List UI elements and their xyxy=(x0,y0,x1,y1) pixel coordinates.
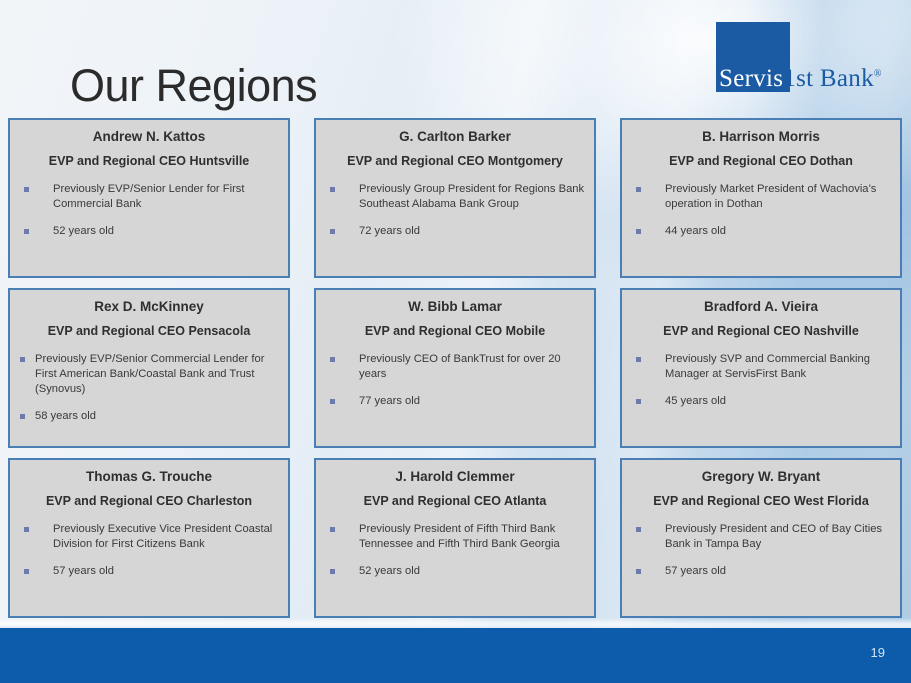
bullet-text: Previously President of Fifth Third Bank… xyxy=(359,522,586,552)
bullet-text: Previously CEO of BankTrust for over 20 … xyxy=(359,352,586,382)
region-card: G. Carlton Barker EVP and Regional CEO M… xyxy=(314,118,596,278)
region-card: Thomas G. Trouche EVP and Regional CEO C… xyxy=(8,458,290,618)
bullet-text: 52 years old xyxy=(359,564,586,579)
executive-name: J. Harold Clemmer xyxy=(324,469,586,486)
list-item: Previously Market President of Wachovia’… xyxy=(630,182,892,212)
square-bullet-icon xyxy=(636,187,641,192)
executive-role: EVP and Regional CEO Atlanta xyxy=(324,494,586,510)
executive-name: Rex D. McKinney xyxy=(18,299,280,316)
executive-name: Thomas G. Trouche xyxy=(18,469,280,486)
executive-name: Bradford A. Vieira xyxy=(630,299,892,316)
list-item: Previously Group President for Regions B… xyxy=(324,182,586,212)
list-item: 57 years old xyxy=(630,564,892,579)
list-item: 72 years old xyxy=(324,224,586,239)
square-bullet-icon xyxy=(330,187,335,192)
executive-bullet-list: Previously Market President of Wachovia’… xyxy=(630,182,892,239)
bullet-text: Previously EVP/Senior Lender for First C… xyxy=(53,182,280,212)
executive-role: EVP and Regional CEO Montgomery xyxy=(324,154,586,170)
executive-role: EVP and Regional CEO Charleston xyxy=(18,494,280,510)
regions-card-grid: Andrew N. Kattos EVP and Regional CEO Hu… xyxy=(8,118,904,618)
executive-bullet-list: Previously EVP/Senior Lender for First C… xyxy=(18,182,280,239)
list-item: Previously EVP/Senior Lender for First C… xyxy=(18,182,280,212)
executive-role: EVP and Regional CEO Nashville xyxy=(630,324,892,340)
executive-role: EVP and Regional CEO Huntsville xyxy=(18,154,280,170)
bullet-text: 44 years old xyxy=(665,224,892,239)
square-bullet-icon xyxy=(24,229,29,234)
list-item: Previously EVP/Senior Commercial Lender … xyxy=(18,352,280,397)
region-card: Gregory W. Bryant EVP and Regional CEO W… xyxy=(620,458,902,618)
executive-bullet-list: Previously EVP/Senior Commercial Lender … xyxy=(18,352,280,424)
list-item: Previously CEO of BankTrust for over 20 … xyxy=(324,352,586,382)
region-card: Rex D. McKinney EVP and Regional CEO Pen… xyxy=(8,288,290,448)
executive-bullet-list: Previously President of Fifth Third Bank… xyxy=(324,522,586,579)
footer-bar xyxy=(0,628,911,683)
executive-name: B. Harrison Morris xyxy=(630,129,892,146)
executive-name: Gregory W. Bryant xyxy=(630,469,892,486)
square-bullet-icon xyxy=(330,229,335,234)
executive-name: W. Bibb Lamar xyxy=(324,299,586,316)
square-bullet-icon xyxy=(330,569,335,574)
executive-bullet-list: Previously Executive Vice President Coas… xyxy=(18,522,280,579)
square-bullet-icon xyxy=(20,357,25,362)
executive-role: EVP and Regional CEO Dothan xyxy=(630,154,892,170)
list-item: 57 years old xyxy=(18,564,280,579)
bullet-text: Previously SVP and Commercial Banking Ma… xyxy=(665,352,892,382)
square-bullet-icon xyxy=(636,569,641,574)
region-card: J. Harold Clemmer EVP and Regional CEO A… xyxy=(314,458,596,618)
list-item: Previously President of Fifth Third Bank… xyxy=(324,522,586,552)
page-number: 19 xyxy=(871,645,885,660)
bullet-text: 52 years old xyxy=(53,224,280,239)
servisfirst-bank-logo: Servis1st Bank® xyxy=(716,22,896,94)
bullet-text: Previously Executive Vice President Coas… xyxy=(53,522,280,552)
list-item: 77 years old xyxy=(324,394,586,409)
executive-role: EVP and Regional CEO West Florida xyxy=(630,494,892,510)
executive-bullet-list: Previously CEO of BankTrust for over 20 … xyxy=(324,352,586,409)
bullet-text: 72 years old xyxy=(359,224,586,239)
logo-wordmark: Servis1st Bank® xyxy=(719,66,882,91)
page-title: Our Regions xyxy=(70,63,317,108)
list-item: Previously SVP and Commercial Banking Ma… xyxy=(630,352,892,382)
square-bullet-icon xyxy=(330,399,335,404)
executive-role: EVP and Regional CEO Pensacola xyxy=(18,324,280,340)
executive-bullet-list: Previously President and CEO of Bay Citi… xyxy=(630,522,892,579)
region-card: B. Harrison Morris EVP and Regional CEO … xyxy=(620,118,902,278)
bullet-text: Previously EVP/Senior Commercial Lender … xyxy=(35,352,280,397)
square-bullet-icon xyxy=(20,414,25,419)
list-item: 44 years old xyxy=(630,224,892,239)
square-bullet-icon xyxy=(330,527,335,532)
executive-bullet-list: Previously Group President for Regions B… xyxy=(324,182,586,239)
square-bullet-icon xyxy=(24,569,29,574)
square-bullet-icon xyxy=(330,357,335,362)
bullet-text: 58 years old xyxy=(35,409,280,424)
bullet-text: Previously Market President of Wachovia’… xyxy=(665,182,892,212)
square-bullet-icon xyxy=(636,399,641,404)
list-item: 52 years old xyxy=(324,564,586,579)
square-bullet-icon xyxy=(636,229,641,234)
presentation-slide: Our Regions Servis1st Bank® Andrew N. Ka… xyxy=(0,0,911,683)
list-item: 58 years old xyxy=(18,409,280,424)
region-card: Andrew N. Kattos EVP and Regional CEO Hu… xyxy=(8,118,290,278)
executive-name: G. Carlton Barker xyxy=(324,129,586,146)
list-item: Previously President and CEO of Bay Citi… xyxy=(630,522,892,552)
bullet-text: Previously President and CEO of Bay Citi… xyxy=(665,522,892,552)
square-bullet-icon xyxy=(24,187,29,192)
list-item: Previously Executive Vice President Coas… xyxy=(18,522,280,552)
executive-name: Andrew N. Kattos xyxy=(18,129,280,146)
square-bullet-icon xyxy=(24,527,29,532)
region-card: W. Bibb Lamar EVP and Regional CEO Mobil… xyxy=(314,288,596,448)
bullet-text: 45 years old xyxy=(665,394,892,409)
executive-role: EVP and Regional CEO Mobile xyxy=(324,324,586,340)
executive-bullet-list: Previously SVP and Commercial Banking Ma… xyxy=(630,352,892,409)
region-card: Bradford A. Vieira EVP and Regional CEO … xyxy=(620,288,902,448)
bullet-text: Previously Group President for Regions B… xyxy=(359,182,586,212)
bullet-text: 57 years old xyxy=(665,564,892,579)
list-item: 45 years old xyxy=(630,394,892,409)
bullet-text: 57 years old xyxy=(53,564,280,579)
footer-highlight xyxy=(0,618,911,628)
bullet-text: 77 years old xyxy=(359,394,586,409)
registered-trademark-icon: ® xyxy=(874,69,882,80)
square-bullet-icon xyxy=(636,527,641,532)
logo-servis-text: Servis xyxy=(719,65,783,92)
list-item: 52 years old xyxy=(18,224,280,239)
logo-1st-bank-text: 1st Bank xyxy=(783,65,874,92)
square-bullet-icon xyxy=(636,357,641,362)
